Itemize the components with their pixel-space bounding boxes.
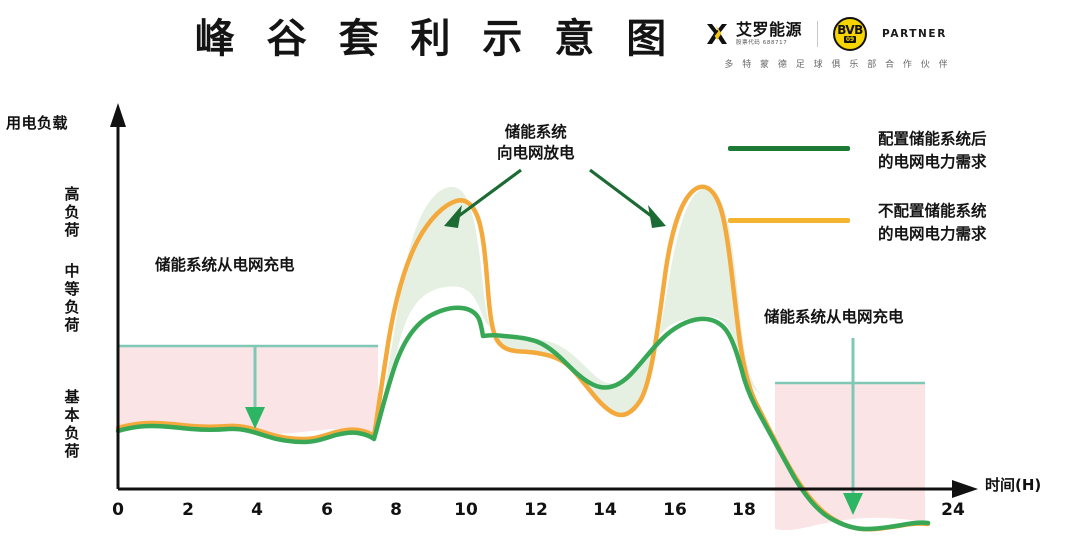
- annotation-discharge-line1: 储能系统: [505, 123, 567, 141]
- annotation-discharge: 储能系统 向电网放电: [497, 122, 575, 164]
- legend-label-no-storage: 不配置储能系统 的电网电力需求: [878, 200, 987, 246]
- chart-page: 峰 谷 套 利 示 意 图 艾罗能源 股票代码 688717 BVB 09 PA…: [0, 0, 1080, 545]
- y-axis-arrowhead: [110, 103, 126, 127]
- legend: 配置储能系统后 的电网电力需求 不配置储能系统 的电网电力需求: [728, 128, 1073, 272]
- brand-name: 艾罗能源: [736, 22, 802, 38]
- logo-block: 艾罗能源 股票代码 688717 BVB 09 PARTNER 多 特 蒙 德 …: [705, 18, 970, 78]
- logo-divider: [817, 21, 818, 47]
- legend-item-no-storage[interactable]: 不配置储能系统 的电网电力需求: [728, 200, 1073, 246]
- arrow-x-icon: [705, 22, 729, 46]
- bvb-badge-icon: BVB 09: [833, 17, 867, 51]
- logo-row: 艾罗能源 股票代码 688717 BVB 09 PARTNER: [705, 18, 970, 50]
- legend-item-with-storage[interactable]: 配置储能系统后 的电网电力需求: [728, 128, 1073, 174]
- legend-label-line1: 不配置储能系统: [878, 202, 987, 220]
- page-title: 峰 谷 套 利 示 意 图: [175, 14, 695, 64]
- x-axis-arrowhead: [952, 480, 978, 498]
- annotation-charge-left: 储能系统从电网充电: [155, 255, 295, 276]
- discharge-arrow-right: [590, 170, 666, 228]
- annotation-charge-right: 储能系统从电网充电: [764, 307, 904, 328]
- bvb-badge-top: BVB: [837, 25, 863, 36]
- stock-code: 股票代码 688717: [736, 39, 802, 47]
- legend-label-line1: 配置储能系统后: [878, 130, 987, 148]
- legend-label-line2: 的电网电力需求: [878, 153, 987, 171]
- region-charge-left: [118, 346, 378, 434]
- legend-label-with-storage: 配置储能系统后 的电网电力需求: [878, 128, 987, 174]
- bvb-badge-bottom: 09: [844, 36, 856, 43]
- logo-tagline: 多 特 蒙 德 足 球 俱 乐 部 合 作 伙 伴: [705, 57, 970, 70]
- brand-text: 艾罗能源 股票代码 688717: [736, 22, 802, 47]
- legend-swatch-no-storage: [728, 218, 850, 223]
- annotation-discharge-line2: 向电网放电: [497, 144, 575, 162]
- legend-swatch-with-storage: [728, 146, 850, 151]
- partner-label: PARTNER: [882, 28, 947, 40]
- legend-label-line2: 的电网电力需求: [878, 225, 987, 243]
